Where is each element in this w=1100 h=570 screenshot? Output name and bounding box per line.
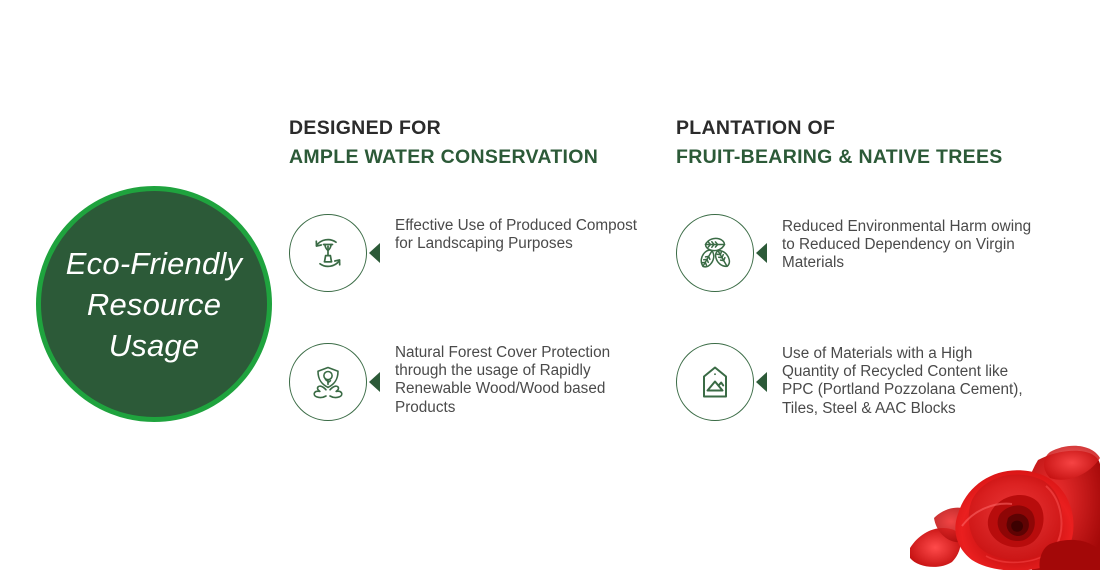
three-leaves-icon (676, 214, 754, 292)
column-1-heading: DESIGNED FOR AMPLE WATER CONSERVATION (289, 116, 649, 169)
column-water-conservation: DESIGNED FOR AMPLE WATER CONSERVATION (289, 116, 649, 169)
feature-recycled-content-materials: Use of Materials with a High Quantity of… (676, 343, 1032, 421)
column-2-heading: PLANTATION OF FRUIT-BEARING & NATIVE TRE… (676, 116, 1036, 169)
column-2-heading-line1: PLANTATION OF (676, 116, 1036, 140)
pointer-triangle-icon (756, 243, 767, 263)
feature-icon-wrap (289, 343, 367, 421)
pointer-triangle-icon (369, 372, 380, 392)
feature-text: Effective Use of Produced Compost for La… (395, 214, 645, 253)
feature-icon-wrap (676, 214, 754, 292)
feature-forest-cover-protection: Natural Forest Cover Protection through … (289, 343, 645, 421)
feature-compost-landscaping: Effective Use of Produced Compost for La… (289, 214, 645, 292)
pointer-triangle-icon (369, 243, 380, 263)
recycled-material-tag-icon (676, 343, 754, 421)
feature-reduced-environmental-harm: Reduced Environmental Harm owing to Redu… (676, 214, 1032, 292)
infographic-canvas: Eco-Friendly Resource Usage DESIGNED FOR… (0, 0, 1100, 570)
red-rose-photo (900, 440, 1100, 570)
column-plantation-trees: PLANTATION OF FRUIT-BEARING & NATIVE TRE… (676, 116, 1036, 169)
column-2-heading-line2: FRUIT-BEARING & NATIVE TREES (676, 145, 1036, 169)
compost-recycle-icon (289, 214, 367, 292)
hero-title: Eco-Friendly Resource Usage (41, 243, 267, 366)
feature-text: Reduced Environmental Harm owing to Redu… (782, 214, 1032, 273)
column-1-heading-line1: DESIGNED FOR (289, 116, 649, 140)
hands-shield-tree-icon (289, 343, 367, 421)
feature-icon-wrap (289, 214, 367, 292)
feature-text: Natural Forest Cover Protection through … (395, 343, 645, 417)
eco-friendly-hero-circle: Eco-Friendly Resource Usage (36, 186, 272, 422)
feature-text: Use of Materials with a High Quantity of… (782, 343, 1032, 418)
feature-icon-wrap (676, 343, 754, 421)
pointer-triangle-icon (756, 372, 767, 392)
column-1-heading-line2: AMPLE WATER CONSERVATION (289, 145, 649, 169)
